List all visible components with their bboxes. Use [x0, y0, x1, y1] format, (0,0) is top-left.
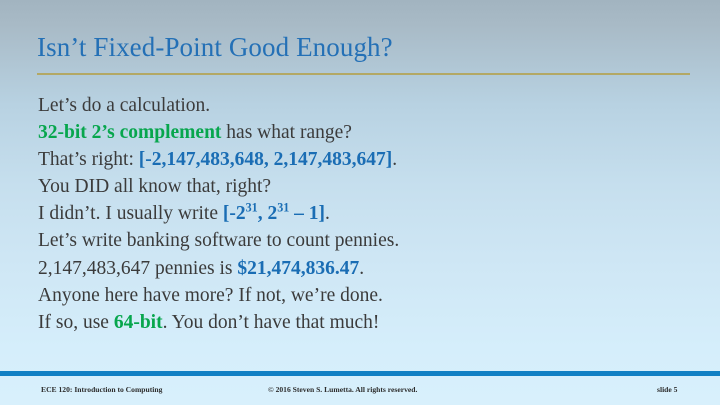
body-line-6: Let’s write banking software to count pe…	[38, 227, 700, 254]
footer-slide-number: slide 5	[657, 385, 677, 394]
body-line-4: You DID all know that, right?	[38, 173, 700, 200]
body-line-5-prefix: I didn’t. I usually write	[38, 203, 223, 224]
body-line-3-prefix: That’s right:	[38, 149, 139, 170]
body-line-6-text: Let’s write banking software to count pe…	[38, 230, 399, 251]
body-line-9-suffix: . You don’t have that much!	[163, 312, 380, 333]
body-line-2-highlight: 32-bit 2’s complement	[38, 122, 221, 143]
body-line-2-text: has what range?	[221, 122, 351, 143]
body-line-5-exponent-b: 31	[277, 201, 289, 215]
body-line-3: That’s right: [-2,147,483,648, 2,147,483…	[38, 146, 700, 173]
body-line-5: I didn’t. I usually write [-231, 231 – 1…	[38, 200, 700, 227]
body-line-3-suffix: .	[392, 149, 397, 170]
body-line-1: Let’s do a calculation.	[38, 92, 700, 119]
footer-divider-bar	[0, 371, 720, 376]
body-line-8-text: Anyone here have more? If not, we’re don…	[38, 285, 383, 306]
body-line-8: Anyone here have more? If not, we’re don…	[38, 282, 700, 309]
body-line-7-suffix: .	[359, 258, 364, 279]
footer-course-name: ECE 120: Introduction to Computing	[41, 385, 162, 394]
body-line-9-highlight: 64-bit	[114, 312, 163, 333]
body-line-5-hl-a: [-2	[223, 203, 246, 224]
body-text-block: Let’s do a calculation. 32-bit 2’s compl…	[38, 92, 700, 336]
slide-footer: ECE 120: Introduction to Computing © 201…	[0, 383, 720, 399]
footer-copyright: © 2016 Steven S. Lumetta. All rights res…	[268, 385, 417, 394]
body-line-9: If so, use 64-bit. You don’t have that m…	[38, 309, 700, 336]
page-title: Isn’t Fixed-Point Good Enough?	[37, 32, 692, 62]
body-line-4-text: You DID all know that, right?	[38, 176, 271, 197]
body-line-7-prefix: 2,147,483,647 pennies is	[38, 258, 237, 279]
slide-canvas: Isn’t Fixed-Point Good Enough? Let’s do …	[0, 0, 720, 405]
title-divider-rule	[37, 73, 690, 75]
body-line-5-hl-b: , 2	[258, 203, 278, 224]
body-line-5-hl-c: – 1]	[289, 203, 325, 224]
body-line-1-text: Let’s do a calculation.	[38, 95, 210, 116]
body-line-5-highlight: [-231, 231 – 1]	[223, 203, 325, 224]
body-line-7: 2,147,483,647 pennies is $21,474,836.47.	[38, 255, 700, 282]
body-line-3-highlight: [-2,147,483,648, 2,147,483,647]	[139, 149, 392, 170]
title-block: Isn’t Fixed-Point Good Enough?	[37, 32, 692, 62]
body-line-5-suffix: .	[325, 203, 330, 224]
body-line-2: 32-bit 2’s complement has what range?	[38, 119, 700, 146]
body-line-7-highlight: $21,474,836.47	[237, 258, 359, 279]
body-line-5-exponent-a: 31	[246, 201, 258, 215]
body-line-9-prefix: If so, use	[38, 312, 114, 333]
